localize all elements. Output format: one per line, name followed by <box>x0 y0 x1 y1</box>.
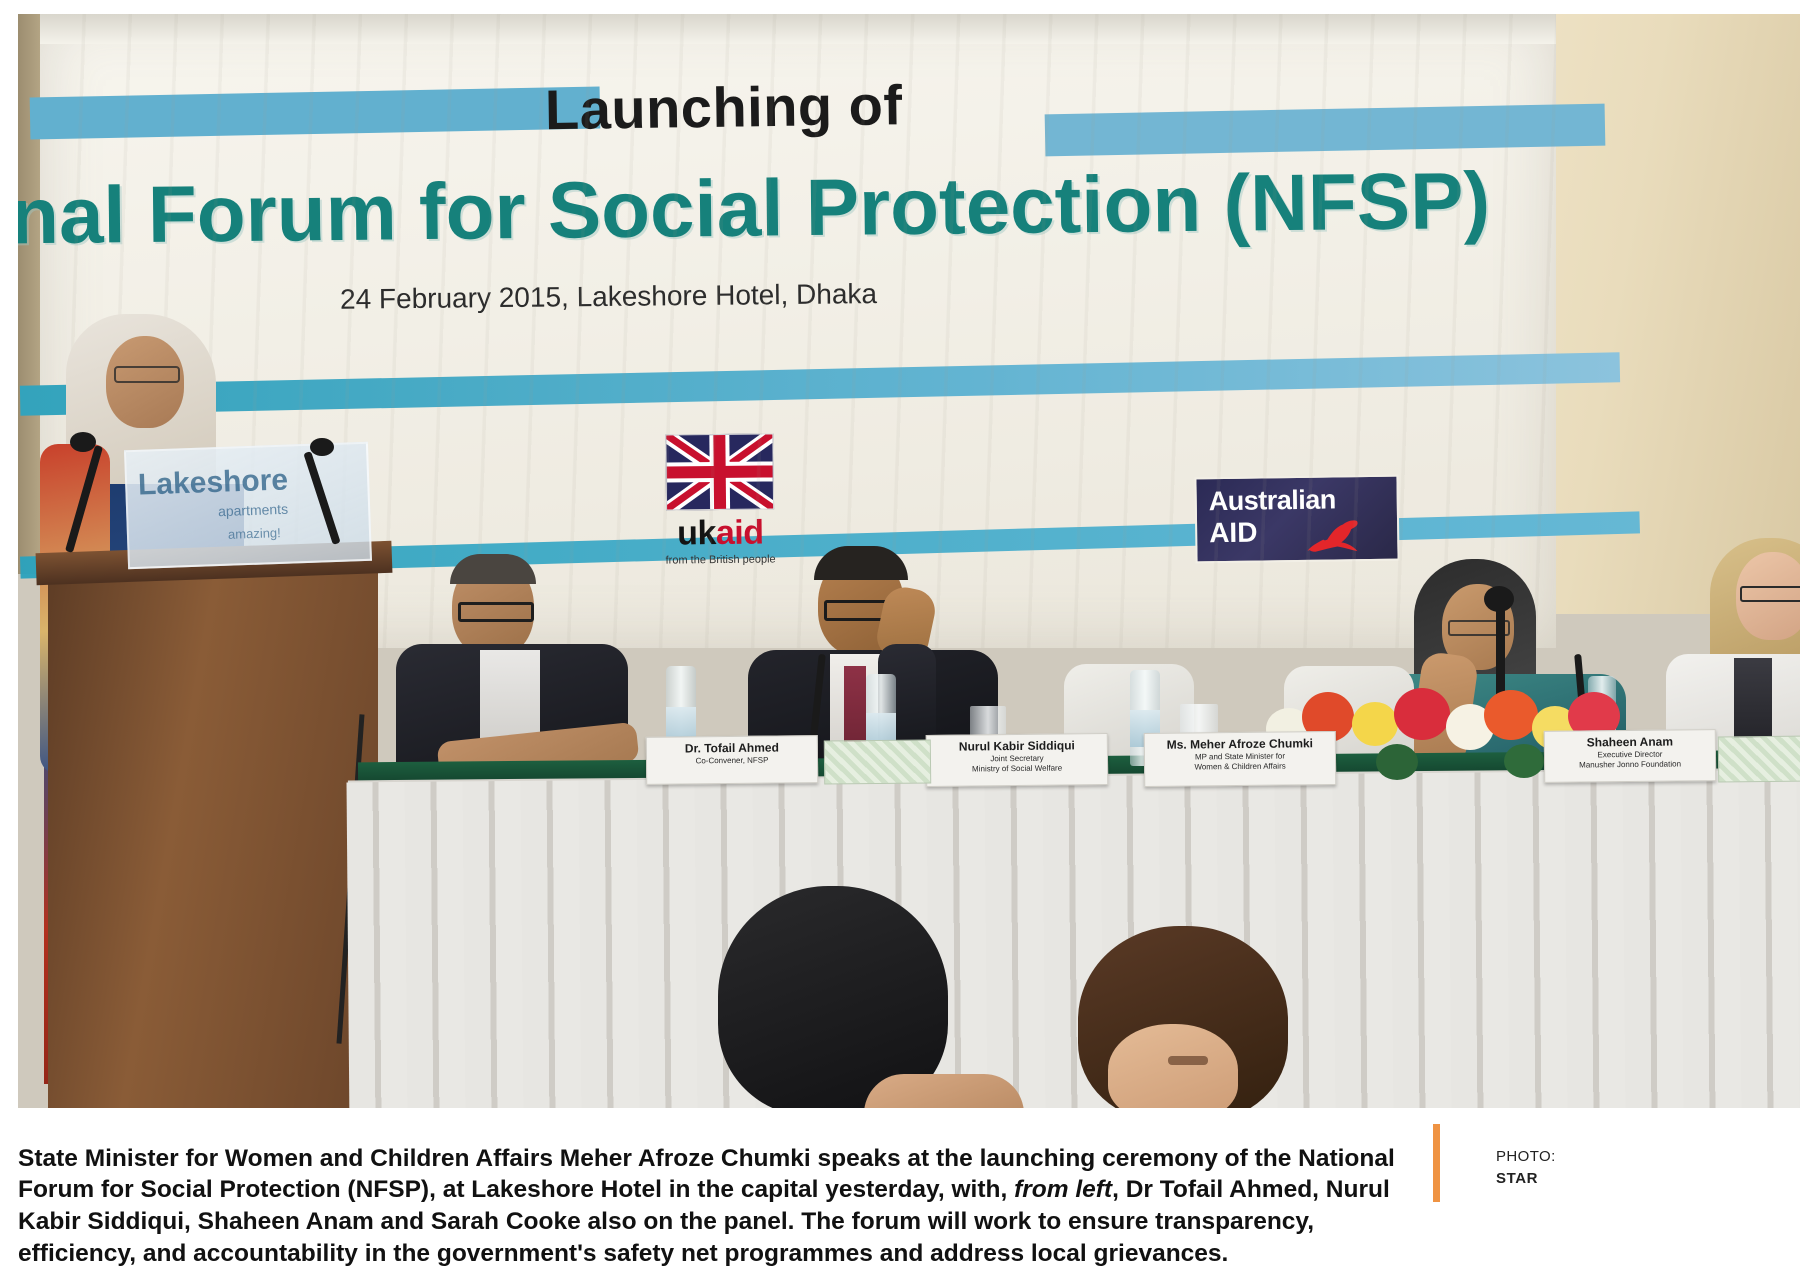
caption-italic-from-left: from left <box>1014 1176 1112 1203</box>
nameplate-role-1: Joint Secretary <box>927 753 1107 764</box>
caption-area: State Minister for Women and Children Af… <box>18 1118 1800 1243</box>
union-jack-icon <box>665 433 774 510</box>
podium-tagline-2: amazing! <box>228 525 281 542</box>
news-photograph: Launching of nal Forum for Social Protec… <box>18 14 1800 1108</box>
banner-date-venue: 24 February 2015, Lakeshore Hotel, Dhaka <box>340 274 1240 315</box>
panel-table-skirt <box>347 770 1800 1108</box>
ausaid-line-2: AID <box>1209 517 1258 550</box>
ukaid-aid-text: aid <box>716 514 764 552</box>
podium-brand-lakeshore: Lakeshore <box>137 463 288 502</box>
nameplate-meher-afroze-chumki: Ms. Meher Afroze Chumki MP and State Min… <box>1144 731 1337 787</box>
ukaid-uk-text: uk <box>677 514 716 552</box>
audience-eyebrow <box>1168 1056 1208 1065</box>
nameplate-nurul-kabir-siddiqui: Nurul Kabir Siddiqui Joint Secretary Min… <box>926 733 1109 787</box>
nameplate-name: Shaheen Anam <box>1545 735 1715 749</box>
nameplate-role-1: Executive Director <box>1545 749 1715 760</box>
audience-face-right <box>1108 1024 1238 1108</box>
banner-fold <box>40 14 1556 44</box>
banner-heading-launching: Launching of <box>545 71 1006 142</box>
podium-tagline-1: apartments <box>218 501 289 519</box>
nameplate-name: Dr. Tofail Ahmed <box>647 741 817 755</box>
table-branded-box <box>824 739 931 784</box>
credit-label: PHOTO: <box>1496 1146 1556 1168</box>
nameplate-shaheen-anam: Shaheen Anam Executive Director Manusher… <box>1544 729 1717 783</box>
podium-microphone-head-right <box>310 438 334 456</box>
ukaid-wordmark: ukaid <box>650 513 790 553</box>
nameplate-role-2: Manusher Jonno Foundation <box>1545 759 1715 770</box>
kangaroo-icon <box>1301 513 1374 554</box>
newspaper-photo-page: Launching of nal Forum for Social Protec… <box>0 0 1818 1249</box>
photo-credit: PHOTO: STAR <box>1496 1146 1556 1190</box>
banner-accent-bar-left <box>30 87 601 140</box>
nameplate-role-1: Co-Convener, NFSP <box>647 755 817 766</box>
ausaid-line-1: Australian <box>1209 484 1336 517</box>
credit-accent-bar <box>1433 1124 1440 1202</box>
banner-heading-forum-title: nal Forum for Social Protection (NFSP) <box>18 154 1610 263</box>
audience-neck-left <box>864 1074 1024 1108</box>
nameplate-name: Nurul Kabir Siddiqui <box>927 739 1107 753</box>
podium-microphone-head-left <box>70 432 96 452</box>
credit-source: STAR <box>1496 1168 1556 1190</box>
ukaid-tagline: from the British people <box>651 553 791 566</box>
ukaid-logo: ukaid from the British people <box>649 433 790 566</box>
banner-divider-bar <box>20 352 1620 416</box>
nameplate-name: Ms. Meher Afroze Chumki <box>1145 737 1335 752</box>
table-branded-box-2 <box>1718 735 1800 782</box>
australian-aid-logo: Australian AID <box>1194 475 1399 564</box>
banner-accent-bar-right <box>1045 104 1606 157</box>
nameplate-tofail-ahmed: Dr. Tofail Ahmed Co-Convener, NFSP <box>646 735 818 785</box>
speaking-podium <box>48 554 378 1108</box>
photo-caption: State Minister for Women and Children Af… <box>18 1143 1418 1270</box>
nameplate-role-2: Ministry of Social Welfare <box>927 763 1107 774</box>
table-microphone-head-2 <box>1484 586 1514 612</box>
nameplate-role-2: Women & Children Affairs <box>1145 761 1335 772</box>
